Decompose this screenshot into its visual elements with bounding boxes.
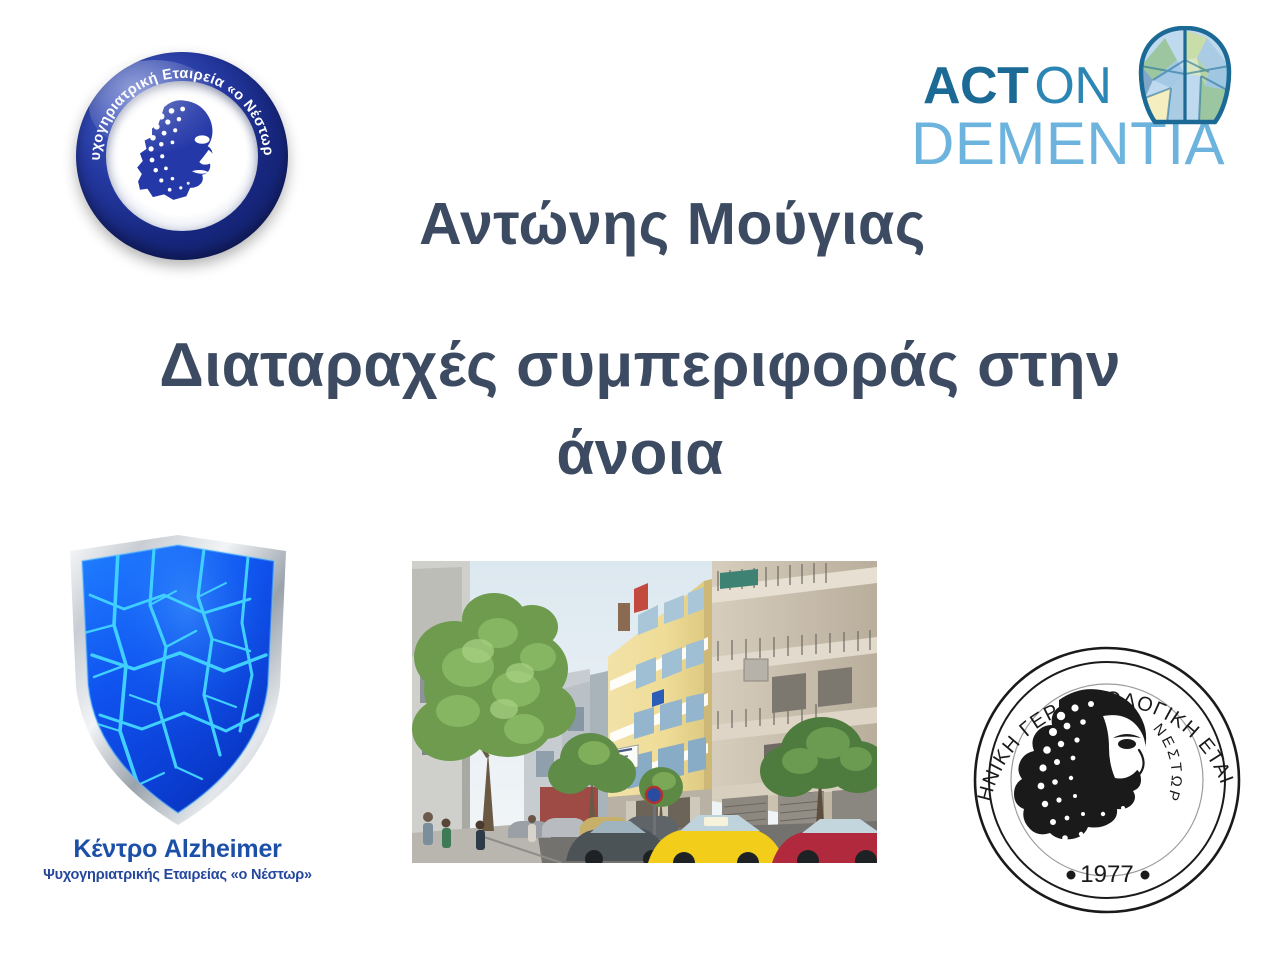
building-street-photo: Φωτογραφία κτιρίου — yellow apartment bu…: [412, 561, 877, 863]
presentation-slide: Ψυχογηριατρική Εταιρεία «ο Νέστωρ»: [0, 0, 1275, 956]
alzheimer-center-logo: Κέντρο Alzheimer Ψυχογηριατρικής Εταιρεί…: [40, 535, 315, 895]
presenter-name: Αντώνης Μούγιας: [0, 190, 1275, 258]
stamp-year-label: 1977: [1080, 861, 1133, 888]
alzheimer-center-title: Κέντρο Alzheimer: [40, 835, 315, 864]
alzheimer-center-subtitle: Ψυχογηριατρικής Εταιρείας «ο Νέστωρ»: [40, 867, 315, 883]
street-scene-illustration: [412, 561, 877, 863]
mosaic-brain-icon: [1137, 26, 1233, 130]
gerontology-stamp-alt: ΕΛΛΗΝΙΚΗ ΓΕΡΟΝΤΟΛΟΓΙΚΗ ΕΤΑΙΡΕΙΑ — black …: [1251, 632, 1252, 633]
slide-title-line-2: άνοια: [40, 410, 1240, 498]
hellenic-gerontological-society-stamp: ΕΛΛΗΝΙΚΗ ΓΕΡΟΝΤΟΛΟΓΙΚΗ ΕΤΑΙΡΕΙΑ ΝΕΣΤΩΡ 1…: [963, 632, 1251, 924]
gerontology-stamp-icon: ΕΛΛΗΝΙΚΗ ΓΕΡΟΝΤΟΛΟΓΙΚΗ ΕΤΑΙΡΕΙΑ ΝΕΣΤΩΡ 1…: [963, 632, 1251, 924]
stamp-dot-left: [1067, 871, 1076, 880]
act-on-dementia-logo: ACT ON DEMENTIA: [905, 22, 1235, 190]
act-word: ACT: [923, 60, 1028, 112]
act-on-wordmark: ACT ON: [923, 60, 1111, 112]
on-word: ON: [1034, 60, 1111, 112]
brain-shield-icon: [54, 535, 302, 825]
slide-title-line-1: Διαταραχές συμπεριφοράς στην: [40, 322, 1240, 410]
stamp-dot-right: [1141, 871, 1150, 880]
slide-title: Διαταραχές συμπεριφοράς στην άνοια: [40, 322, 1240, 498]
